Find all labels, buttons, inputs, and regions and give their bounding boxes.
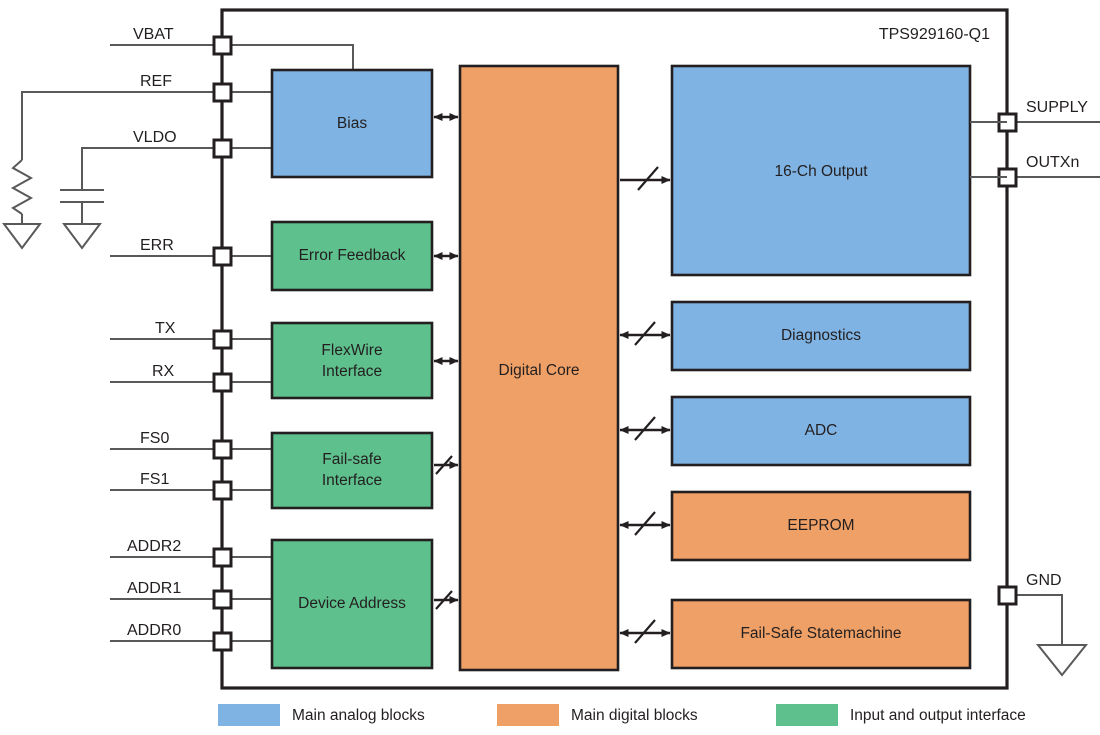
device-part-number: TPS929160-Q1 bbox=[879, 26, 990, 43]
connector-core-failsafesm bbox=[620, 620, 670, 643]
connector-core-eeprom bbox=[620, 512, 670, 535]
pin-label-supply: SUPPLY bbox=[1026, 99, 1088, 116]
block-label-digital-core: Digital Core bbox=[499, 362, 580, 379]
legend-label-analog: Main analog blocks bbox=[292, 707, 425, 724]
pin-square-fs0[interactable] bbox=[214, 441, 231, 458]
pin-label-addr0: ADDR0 bbox=[127, 622, 181, 639]
connector-deviceaddress-core bbox=[434, 591, 458, 609]
pin-label-vldo: VLDO bbox=[133, 129, 177, 146]
pin-label-vbat: VBAT bbox=[133, 26, 174, 43]
pin-label-addr1: ADDR1 bbox=[127, 580, 181, 597]
pin-label-outxn: OUTXn bbox=[1026, 154, 1079, 171]
pin-label-tx: TX bbox=[155, 320, 176, 337]
block-label-device-address: Device Address bbox=[298, 595, 406, 612]
pin-square-err[interactable] bbox=[214, 248, 231, 265]
legend-label-io: Input and output interface bbox=[850, 707, 1026, 724]
legend-label-digital: Main digital blocks bbox=[571, 707, 698, 724]
pin-square-addr0[interactable] bbox=[214, 633, 231, 650]
pin-label-gnd: GND bbox=[1026, 572, 1062, 589]
pin-square-rx[interactable] bbox=[214, 374, 231, 391]
ref-resistor-symbol bbox=[4, 160, 40, 248]
gnd-symbol bbox=[1038, 645, 1086, 675]
block-label-bias: Bias bbox=[337, 115, 367, 132]
pin-label-err: ERR bbox=[140, 237, 174, 254]
block-failsafe-interface[interactable] bbox=[272, 433, 432, 508]
block-label-failsafe-line2: Interface bbox=[322, 472, 382, 489]
tps929160-block-diagram: VBAT REF VLDO ERR TX RX FS0 FS1 ADDR2 AD… bbox=[0, 0, 1100, 735]
pin-square-vbat[interactable] bbox=[214, 37, 231, 54]
block-label-failsafe-statemachine: Fail-Safe Statemachine bbox=[740, 625, 901, 642]
pin-label-fs1: FS1 bbox=[140, 471, 169, 488]
block-label-16ch-output: 16-Ch Output bbox=[774, 163, 868, 180]
block-flexwire-interface[interactable] bbox=[272, 323, 432, 398]
pin-square-fs1[interactable] bbox=[214, 482, 231, 499]
pin-label-ref: REF bbox=[140, 73, 172, 90]
block-label-error-feedback: Error Feedback bbox=[299, 247, 406, 264]
legend-swatch-analog bbox=[218, 704, 280, 726]
pin-square-addr2[interactable] bbox=[214, 549, 231, 566]
wire-ref-external bbox=[22, 92, 222, 160]
connector-core-adc bbox=[620, 417, 670, 440]
block-label-flexwire-line1: FlexWire bbox=[321, 342, 382, 359]
block-label-eeprom: EEPROM bbox=[787, 517, 854, 534]
connector-failsafeif-core bbox=[434, 456, 458, 474]
wire-vldo-external bbox=[82, 148, 222, 178]
legend-swatch-digital bbox=[497, 704, 559, 726]
pin-label-fs0: FS0 bbox=[140, 430, 169, 447]
block-label-failsafe-line1: Fail-safe bbox=[322, 451, 381, 468]
legend-swatch-io bbox=[776, 704, 838, 726]
block-label-diagnostics: Diagnostics bbox=[781, 327, 861, 344]
vldo-capacitor-symbol bbox=[60, 178, 104, 248]
wire-vbat-to-bias bbox=[222, 45, 353, 70]
connector-core-diagnostics bbox=[620, 322, 670, 345]
pin-square-vldo[interactable] bbox=[214, 140, 231, 157]
legend: Main analog blocks Main digital blocks I… bbox=[218, 704, 1026, 726]
block-label-adc: ADC bbox=[805, 422, 838, 439]
pin-label-addr2: ADDR2 bbox=[127, 538, 181, 555]
pin-label-rx: RX bbox=[152, 363, 175, 380]
block-diagram-root: VBAT REF VLDO ERR TX RX FS0 FS1 ADDR2 AD… bbox=[0, 0, 1100, 735]
block-label-flexwire-line2: Interface bbox=[322, 363, 382, 380]
connector-core-output16ch bbox=[620, 167, 670, 190]
pin-square-gnd[interactable] bbox=[999, 587, 1016, 604]
pin-square-tx[interactable] bbox=[214, 331, 231, 348]
pin-square-ref[interactable] bbox=[214, 84, 231, 101]
pin-square-addr1[interactable] bbox=[214, 591, 231, 608]
